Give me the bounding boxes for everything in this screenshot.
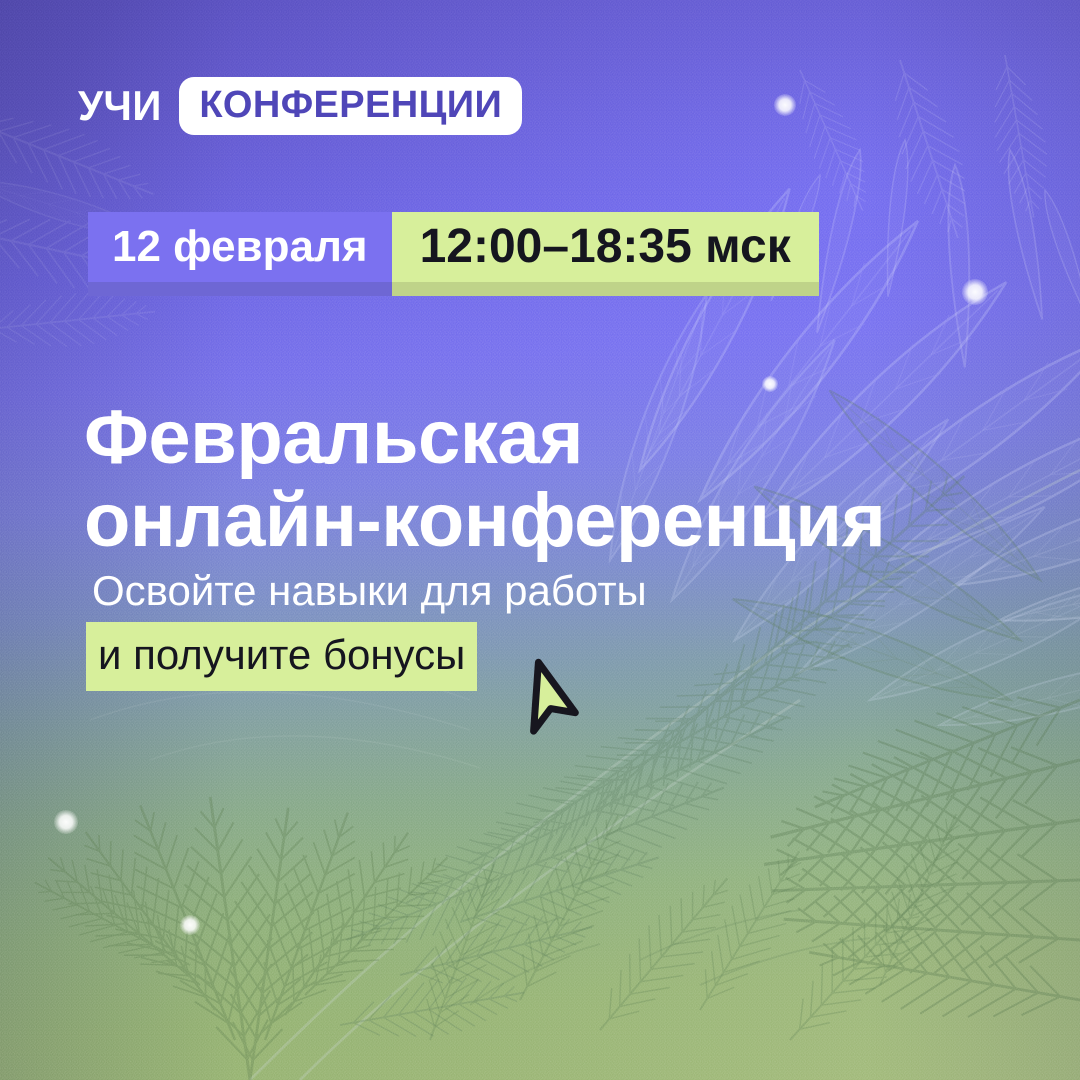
headline-line-1: Февральская [84,397,885,480]
subtitle: Освойте навыки для работы и получите бон… [86,566,647,691]
logo-pill-konferencii: КОНФЕРЕНЦИИ [179,77,522,135]
event-badges: 12 февраля 12:00–18:35 мск [88,212,819,282]
badge-time-label: 12:00–18:35 мск [392,212,819,282]
promo-poster: УЧИ КОНФЕРЕНЦИИ 12 февраля 12:00–18:35 м… [0,0,1080,1080]
subtitle-line-2-highlighted: и получите бонусы [86,622,477,690]
page-title: Февральская онлайн-конференция [84,397,885,563]
brand-logo: УЧИ КОНФЕРЕНЦИИ [78,80,522,132]
badge-date: 12 февраля [88,212,392,282]
subtitle-line-1: Освойте навыки для работы [86,566,647,616]
badge-date-shadow [88,282,392,296]
badge-time-shadow [392,282,819,296]
headline-line-2: онлайн-конференция [84,480,885,563]
logo-word-uchi: УЧИ [78,85,162,127]
badge-time: 12:00–18:35 мск [392,212,819,282]
badge-date-label: 12 февраля [88,212,392,282]
